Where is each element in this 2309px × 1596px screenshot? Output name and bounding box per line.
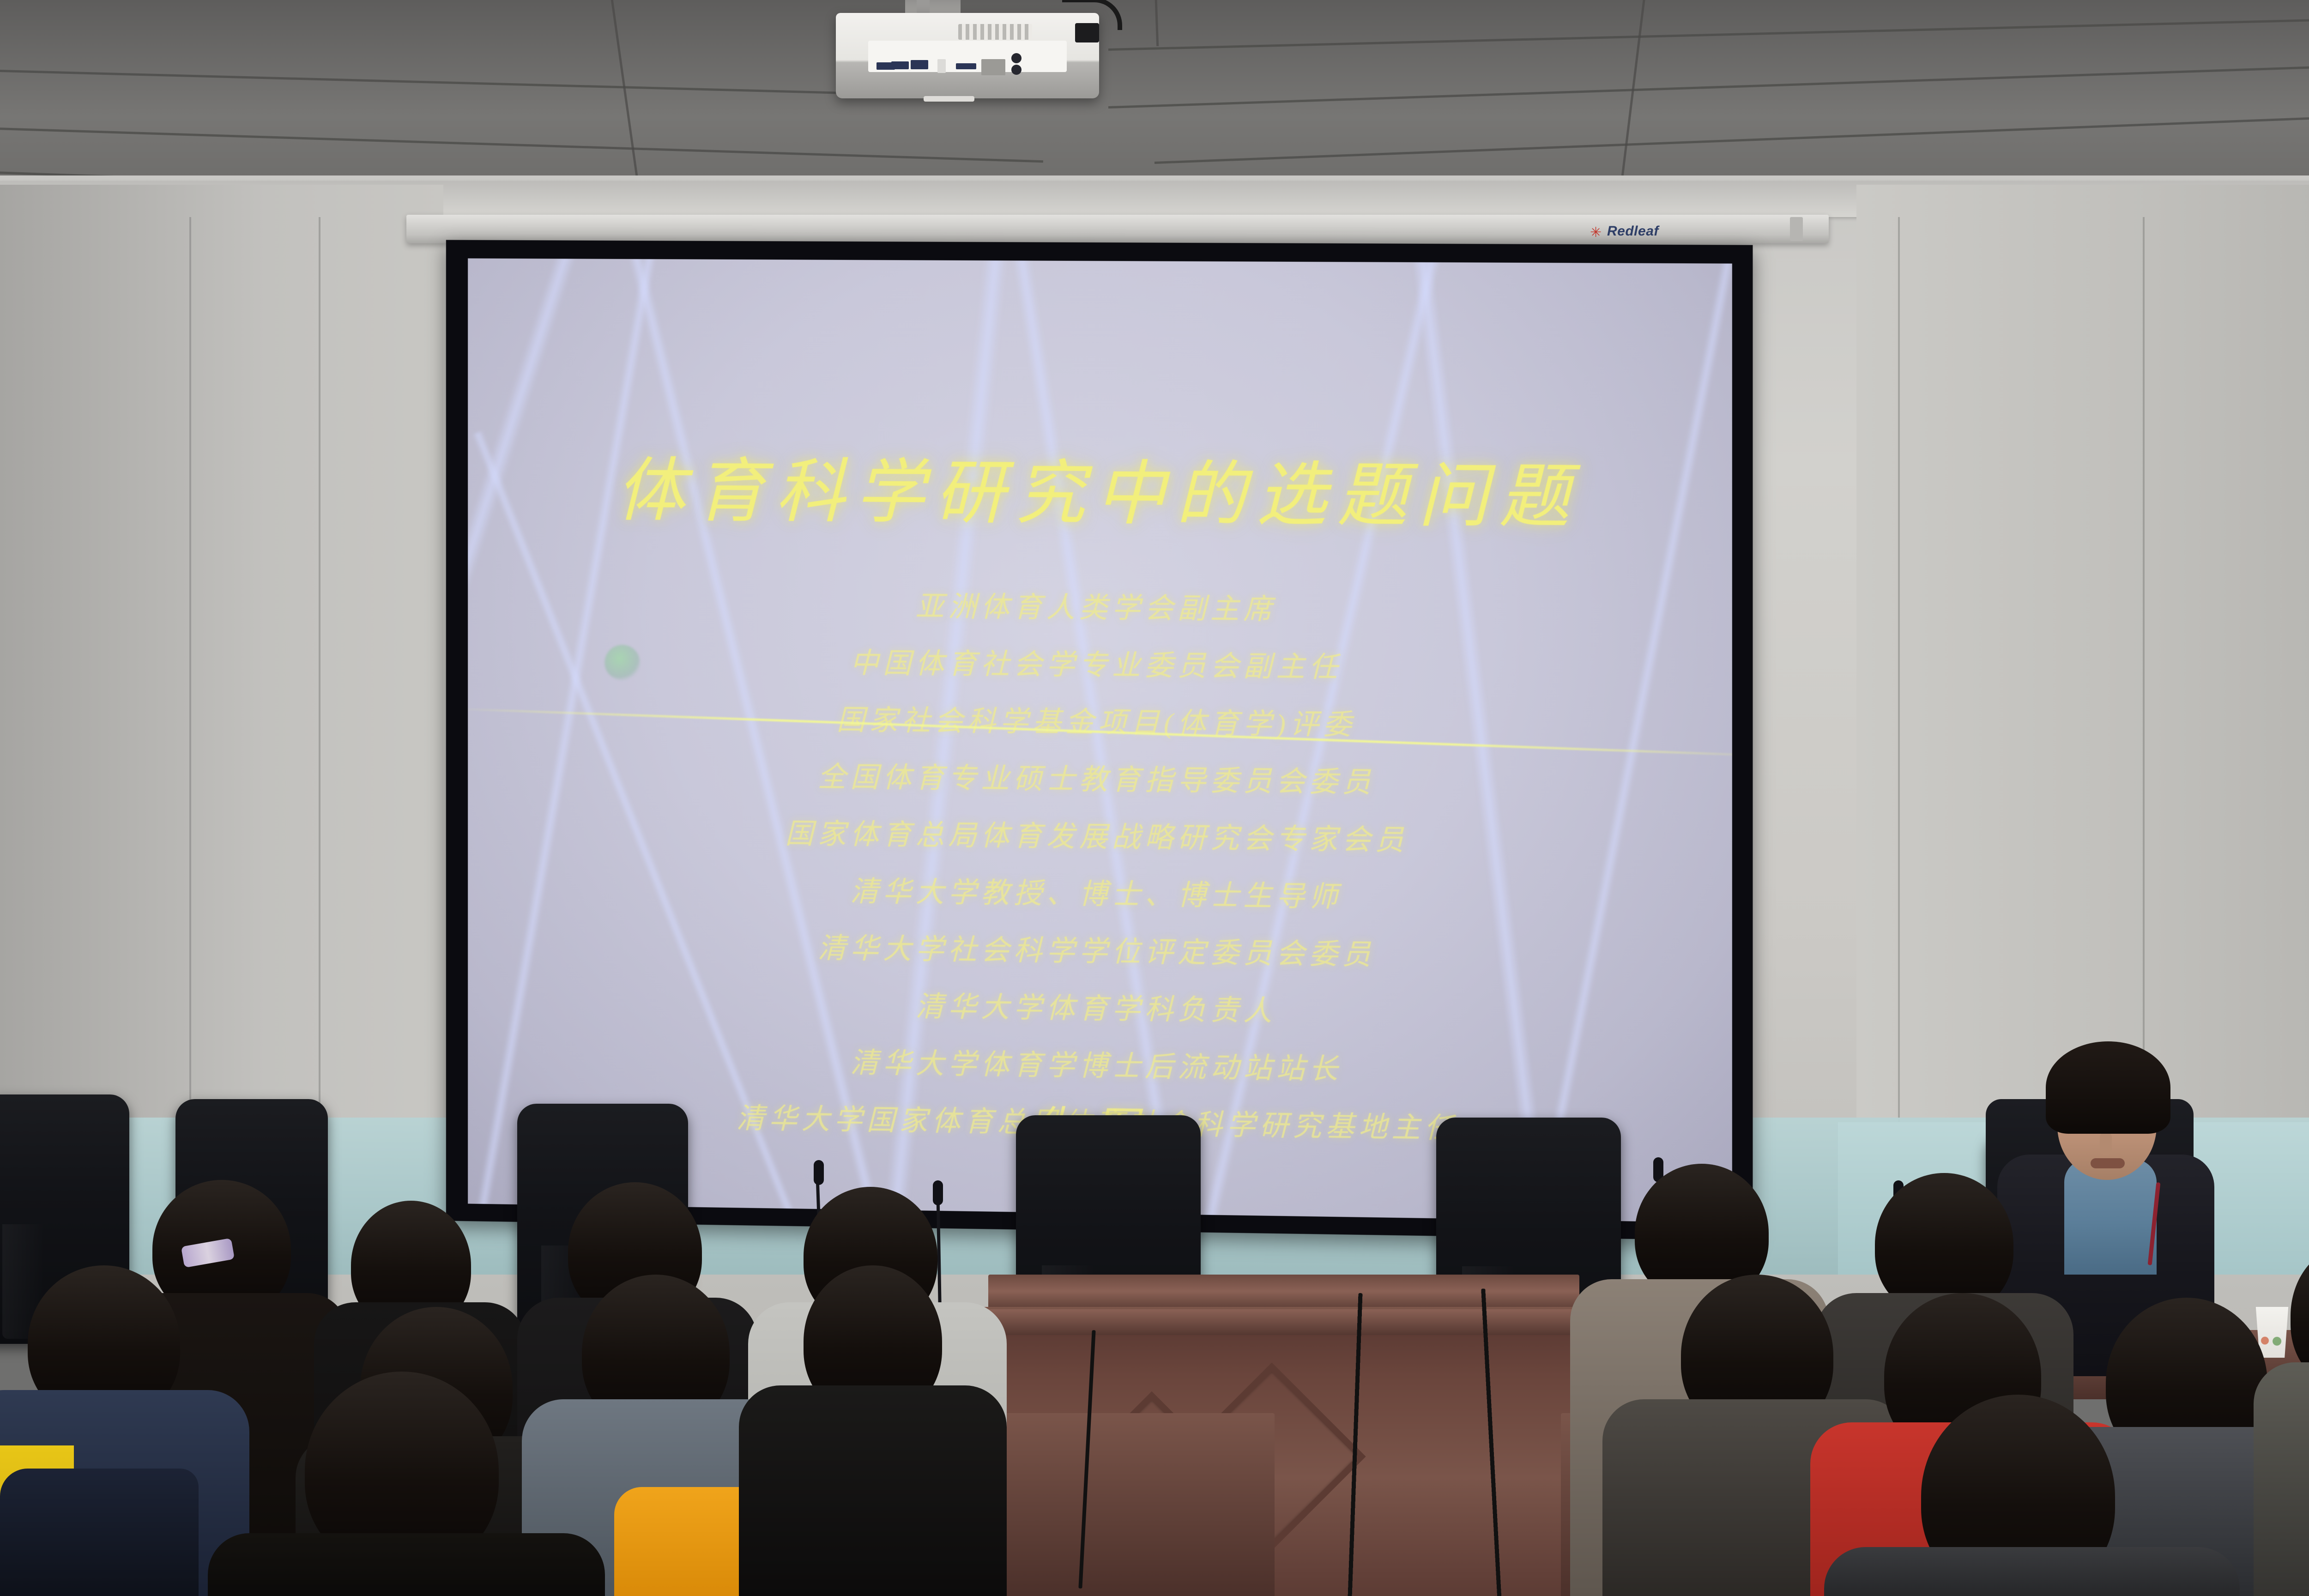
audience-body-front	[1824, 1547, 2240, 1596]
wall-seam-1	[1898, 217, 1900, 1233]
projector-port-hdmi	[981, 59, 1005, 75]
gooseneck-microphone-head[interactable]	[933, 1180, 943, 1205]
projection-screen[interactable]: 体育科学研究中的选题问题 亚洲体育人类学会副主席 中国体育社会学专业委员会副主任…	[446, 240, 1753, 1241]
credential-line: 清华大学社会科学学位评定委员会委员	[468, 920, 1732, 977]
speaker-hair	[2046, 1041, 2170, 1134]
ceiling-panels	[0, 0, 2309, 194]
screen-roller-endcap	[1790, 217, 1803, 241]
lecture-hall-photo: ✳ Redleaf 体育科学研究中的选题问题 亚洲体育人类学会副主席 中国体育社…	[0, 0, 2309, 1596]
projector-plug	[1075, 23, 1099, 42]
projector-jack-2	[1011, 65, 1022, 75]
projector-top-vent	[958, 24, 1032, 40]
credential-line: 清华大学教授、博士、博士生导师	[468, 864, 1732, 919]
left-wall	[0, 185, 443, 1224]
credential-line: 国家体育总局体育发展战略研究会专家会员	[468, 807, 1732, 862]
redleaf-star-icon: ✳	[1590, 224, 1602, 241]
podium-upper-band	[924, 1309, 1607, 1335]
credential-line: 国家社会科学基金项目(体育学)评委	[468, 693, 1732, 747]
credential-line: 清华大学体育学科负责人	[468, 977, 1732, 1035]
projector-port-vga	[956, 63, 976, 69]
credential-line: 亚洲体育人类学会副主席	[468, 579, 1732, 631]
credential-line: 中国体育社会学专业委员会副主任	[468, 636, 1732, 689]
audience-body-front	[208, 1533, 605, 1596]
projector-port-4	[937, 59, 946, 73]
audience-body	[739, 1385, 1007, 1596]
audience-body-front	[0, 1469, 199, 1596]
audience-body-olive-coat	[2254, 1362, 2309, 1596]
projector-foot	[924, 96, 974, 102]
projector-jack-1	[1011, 53, 1022, 63]
slide-credentials-block: 亚洲体育人类学会副主席 中国体育社会学专业委员会副主任 国家社会科学基金项目(体…	[468, 579, 1732, 1166]
projected-slide: 体育科学研究中的选题问题 亚洲体育人类学会副主席 中国体育社会学专业委员会副主任…	[468, 258, 1732, 1222]
credential-line: 全国体育专业硕士教育指导委员会委员	[468, 750, 1732, 804]
wall-seam-3	[319, 217, 320, 1224]
wall-seam-4	[189, 217, 191, 1224]
projector-port-3	[911, 60, 928, 69]
screen-brand-label: Redleaf	[1607, 224, 1659, 239]
paper-cup-pattern	[2258, 1335, 2285, 1347]
projector-port-2	[891, 61, 909, 69]
credential-line: 清华大学体育学博士后流动站站长	[468, 1034, 1732, 1093]
gooseneck-microphone-head[interactable]	[814, 1160, 824, 1185]
slide-title: 体育科学研究中的选题问题	[468, 433, 1732, 543]
